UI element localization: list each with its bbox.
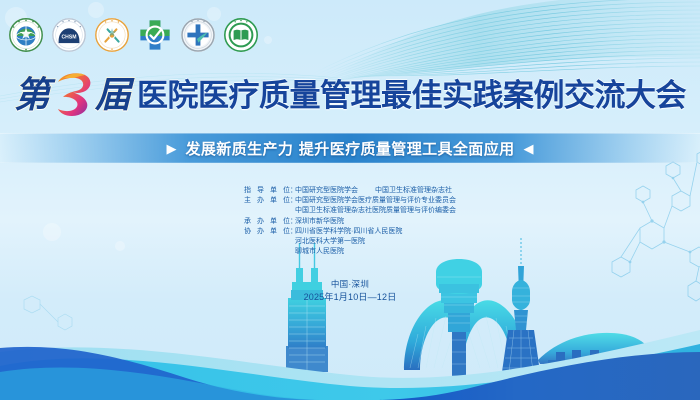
shun-hing-square-tower <box>286 243 328 372</box>
organizer-values: 中国研究型医院学会中国卫生标准管理杂志社 <box>295 186 452 196</box>
organizer-values: 中国研究型医院学会医疗质量管理与评价专业委员会中国卫生标准管理杂志社医院质量管理… <box>295 196 456 216</box>
organizer-value: 四川省医学科学院·四川省人民医院 <box>295 227 402 237</box>
organizer-values: 深圳市新华医院 <box>295 217 344 227</box>
conference-banner: CHSM <box>0 0 700 400</box>
right-triangle-icon: ◀ <box>524 142 534 155</box>
organizer-value: 中国研究型医院学会医疗质量管理与评价专业委员会 <box>295 196 456 206</box>
organizer-value: 深圳市新华医院 <box>295 217 344 227</box>
organizer-value: 中国卫生标准管理杂志社医院质量管理与评价编委会 <box>295 206 456 216</box>
organizer-row: 指导单位：中国研究型医院学会中国卫生标准管理杂志社 <box>244 186 456 196</box>
organizer-row: 协办单位：四川省医学科学院·四川省人民医院河北医科大学第一医院聊城市人民医院 <box>244 227 456 258</box>
organizer-label: 承办单位 <box>244 217 290 227</box>
shenzhen-xinhua-hospital-logo <box>137 17 173 53</box>
title-suffix: 届 <box>95 78 131 114</box>
organizers-list: 指导单位：中国研究型医院学会中国卫生标准管理杂志社主办单位：中国研究型医院学会医… <box>244 186 456 257</box>
organizer-label: 主办单位 <box>244 196 290 206</box>
china-research-hospital-association-logo <box>8 17 44 53</box>
organizer-row: 主办单位：中国研究型医院学会医疗质量管理与评价专业委员会中国卫生标准管理杂志社医… <box>244 196 456 216</box>
svg-text:CHSM: CHSM <box>62 34 77 40</box>
organizer-label: 协办单位 <box>244 227 290 237</box>
organizer-value-item: 中国研究型医院学会 <box>295 186 358 196</box>
subtitle-text: 发展新质生产力 提升医疗质量管理工具全面应用 <box>185 138 514 159</box>
organizer-value: 河北医科大学第一医院 <box>295 237 402 247</box>
left-triangle-icon: ▶ <box>166 142 176 155</box>
quality-management-committee-logo <box>94 17 130 53</box>
page-title: 医院医疗质量管理最佳实践案例交流大会 <box>137 81 686 112</box>
subtitle-band: ▶ 发展新质生产力 提升医疗质量管理工具全面应用 ◀ <box>0 133 700 163</box>
event-meta: 中国·深圳 2025年1月10日—12日 <box>0 278 700 304</box>
organizer-row: 承办单位：深圳市新华医院 <box>244 217 456 227</box>
liaocheng-peoples-hospital-logo <box>223 17 259 53</box>
organizer-logo-row: CHSM <box>8 17 259 53</box>
organizer-value-item: 中国卫生标准管理杂志社 <box>375 186 452 196</box>
title-block: 第 届 医院医疗质量管理最佳实践案例交流大会 <box>0 68 700 124</box>
title-line: 第 届 医院医疗质量管理最佳实践案例交流大会 <box>14 71 686 121</box>
tv-antenna-tower <box>502 238 540 372</box>
organizer-value: 聊城市人民医院 <box>295 247 402 257</box>
edition-number-3 <box>52 69 96 119</box>
event-date: 2025年1月10日—12日 <box>0 291 700 304</box>
organizer-values: 四川省医学科学院·四川省人民医院河北医科大学第一医院聊城市人民医院 <box>295 227 402 258</box>
organizer-value: 中国研究型医院学会中国卫生标准管理杂志社 <box>295 186 452 196</box>
event-place: 中国·深圳 <box>0 278 700 291</box>
organizers-block: 指导单位：中国研究型医院学会中国卫生标准管理杂志社主办单位：中国研究型医院学会医… <box>0 186 700 257</box>
sichuan-provincial-peoples-hospital-logo <box>180 17 216 53</box>
title-prefix: 第 <box>14 78 50 114</box>
organizer-label: 指导单位 <box>244 186 290 196</box>
chsm-logo: CHSM <box>51 17 87 53</box>
